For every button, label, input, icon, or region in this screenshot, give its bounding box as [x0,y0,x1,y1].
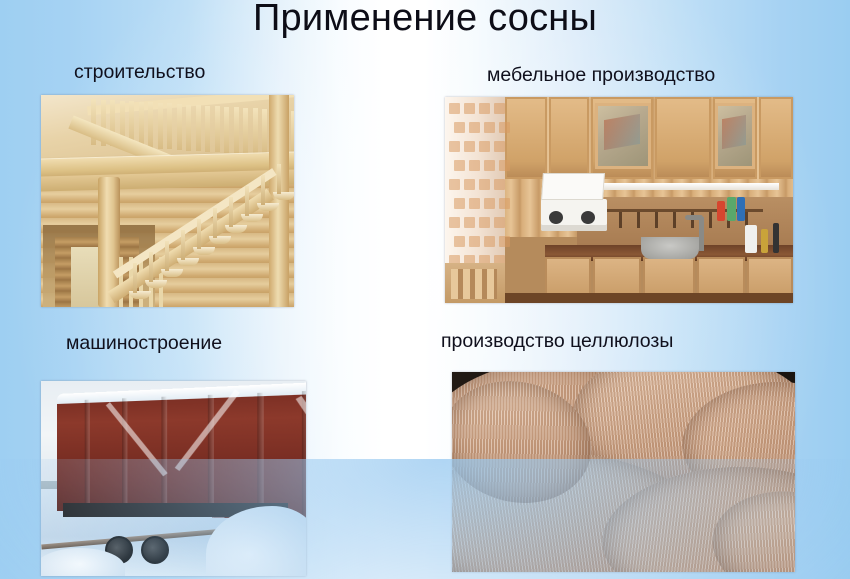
curtain-pattern [469,122,480,133]
stair-spindle [181,230,185,260]
page-title: Применение сосны [0,0,850,40]
upper-cabinet [505,97,547,179]
stair-spindle [213,208,217,238]
curtain-pattern [454,160,465,171]
stair-spindle [197,219,201,249]
baluster [262,109,267,155]
baluster [167,103,172,149]
caption-cellulose: производство целлюлозы [441,330,673,353]
baluster [158,103,163,149]
curtain-pattern [484,160,495,171]
curtain-pattern [464,217,475,228]
window-curtain [445,97,505,273]
boxcar-rib [161,397,167,516]
upper-cabinet [759,97,793,179]
boxcar-rib [208,395,214,518]
stair-spindle [245,186,249,216]
baluster [215,106,220,152]
curtain-pattern [469,198,480,209]
construction-photo [41,95,294,307]
curtain-pattern [499,198,510,209]
counter-item [745,225,757,253]
machinery-photo [41,381,306,576]
kitchen-floor [503,293,793,303]
utensil-hook [637,212,640,228]
curtain-pattern [479,179,490,190]
furniture-photo [445,97,793,303]
boxcar-rib [122,398,127,514]
baluster [253,108,258,154]
curtain-pattern [499,160,510,171]
boxcar-rib [85,400,90,513]
curtain-pattern [449,141,460,152]
curtain-pattern [494,103,505,114]
boxcar-brace [106,402,168,476]
baluster [186,105,191,151]
curtain-pattern [494,141,505,152]
curtain-pattern [449,217,460,228]
baluster [205,106,210,152]
boxcar-wheel [141,536,169,564]
curtain-pattern [469,236,480,247]
stair-spindle [133,263,137,293]
kitchen-sink [641,237,699,259]
curtain-pattern [499,236,510,247]
faucet [699,217,704,251]
curtain-pattern [494,179,505,190]
curtain-pattern [464,103,475,114]
curtain-pattern [454,198,465,209]
counter-item [717,201,725,221]
caption-machinery: машиностроение [66,332,222,355]
stair-spindle [165,241,169,271]
baluster [291,111,295,157]
upper-cabinet [549,97,589,179]
counter-item [773,223,779,253]
stove-burner [581,211,595,224]
curtain-pattern [484,122,495,133]
utensil-hook [673,212,676,228]
curtain-pattern [499,122,510,133]
counter-item [761,229,768,253]
curtain-pattern [479,141,490,152]
presentation-slide: Применение сосны строительство мебельное… [0,0,850,579]
stair-spindle [229,197,233,227]
curtain-pattern [479,103,490,114]
caption-construction: строительство [74,61,205,84]
curtain-pattern [449,179,460,190]
stair-spindle [261,175,265,205]
corner-post [269,95,289,307]
under-cabinet-light [589,183,779,190]
counter-item [727,197,736,221]
baluster [177,104,182,150]
baluster [139,102,144,148]
boxcar-rib [257,393,263,520]
utensil-hook [709,212,712,228]
glass-cabinet-door [715,103,755,169]
glass-cabinet-door [595,103,651,169]
stair-spindle [149,252,153,282]
curtain-pattern [464,141,475,152]
curtain-pattern [449,103,460,114]
curtain-pattern [454,236,465,247]
wooden-chair [445,263,505,303]
caption-furniture: мебельное производство [487,64,715,87]
baluster [148,102,153,148]
curtain-pattern [494,217,505,228]
stove-burner [549,211,563,224]
curtain-pattern [484,198,495,209]
counter-item [737,197,745,221]
baluster [234,107,239,153]
curtain-pattern [464,179,475,190]
baluster [196,105,201,151]
cellulose-photo [452,372,795,572]
upper-cabinet [655,97,711,179]
curtain-pattern [484,236,495,247]
utensil-hook [619,212,622,228]
portable-stove [541,199,607,231]
stair-spindle [277,164,281,194]
curtain-pattern [454,122,465,133]
curtain-pattern [479,217,490,228]
baluster [243,108,248,154]
curtain-pattern [469,160,480,171]
baluster [224,107,229,153]
utensil-hook [655,212,658,228]
